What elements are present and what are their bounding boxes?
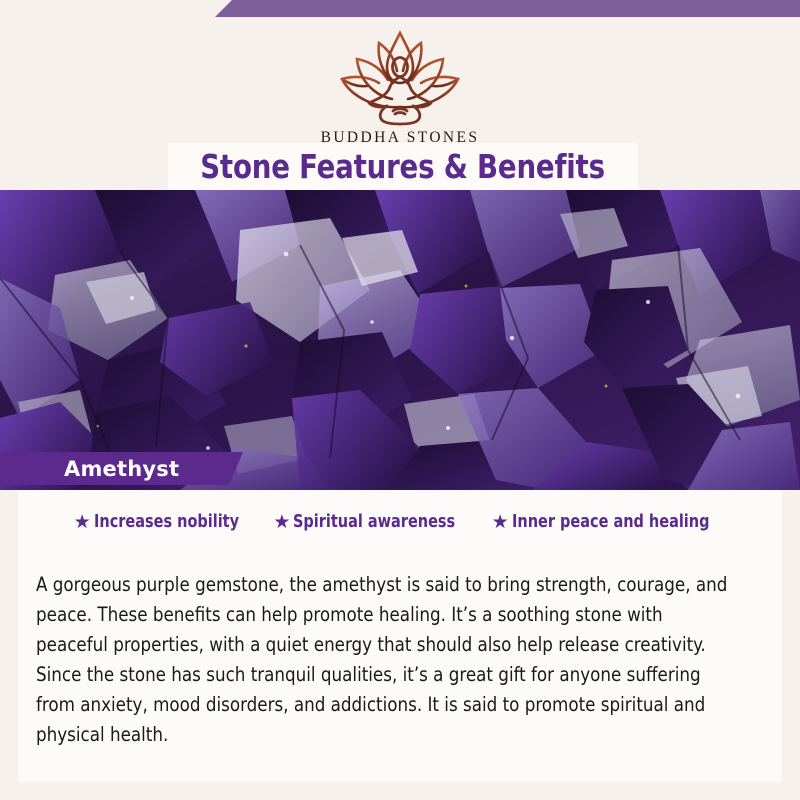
card-body: ★ Increases nobility ★ Spiritual awarene… (0, 490, 800, 800)
stone-photo (0, 190, 800, 490)
star-icon: ★ (74, 513, 91, 532)
decorative-band-top (215, 0, 800, 17)
stone-name: Amethyst (0, 457, 179, 481)
benefit-label: Spiritual awareness (293, 512, 455, 532)
benefit-item-2: ★ Spiritual awareness (273, 512, 469, 532)
benefit-label: Increases nobility (94, 512, 239, 532)
benefits-list: ★ Increases nobility ★ Spiritual awarene… (18, 512, 782, 532)
lotus-meditation-icon (325, 23, 475, 127)
benefit-item-1: ★ Increases nobility (74, 512, 252, 532)
brand-logo: BUDDHA STONES (0, 23, 800, 147)
star-icon: ★ (273, 513, 290, 532)
amethyst-crystal-image (0, 190, 800, 490)
benefit-label: Inner peace and healing (512, 512, 709, 532)
stone-description: A gorgeous purple gemstone, the amethyst… (36, 570, 735, 750)
page-title: Stone Features & Benefits (201, 147, 606, 186)
benefit-item-3: ★ Inner peace and healing (492, 512, 727, 532)
title-banner: Stone Features & Benefits (168, 143, 638, 190)
stone-name-banner: Amethyst (0, 452, 243, 485)
star-icon: ★ (492, 513, 509, 532)
body-panel: ★ Increases nobility ★ Spiritual awarene… (18, 490, 782, 782)
stone-info-card: BUDDHA STONES Stone Features & Benefits (0, 0, 800, 800)
